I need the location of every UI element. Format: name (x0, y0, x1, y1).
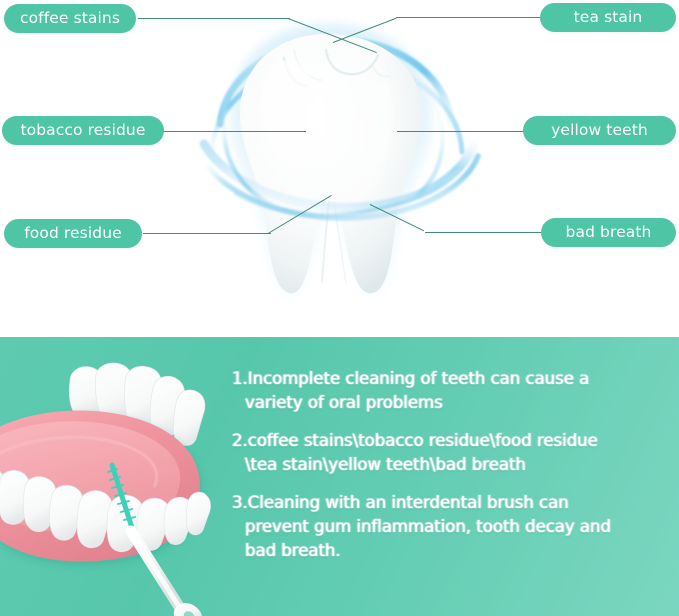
bullet-2-line-2: \tea stain\yellow teeth\bad breath (232, 453, 672, 477)
label-pill-coffee-stains[interactable]: coffee stains (4, 4, 136, 33)
connector-line-tobacco-residue (163, 131, 306, 132)
bullet-1-line-2: variety of oral problems (232, 391, 672, 415)
bullet-3-line-2: prevent gum inflammation, tooth decay an… (232, 515, 672, 539)
label-pill-yellow-teeth[interactable]: yellow teeth (523, 116, 676, 145)
bottom-info-panel: 1.Incomplete cleaning of teeth can cause… (0, 337, 679, 616)
label-pill-food-residue[interactable]: food residue (4, 219, 142, 248)
connector-line-tea-stain (396, 17, 542, 18)
dental-model-photo (0, 337, 232, 616)
bullet-3-line-1: 3.Cleaning with an interdental brush can (232, 491, 672, 515)
bullet-1-line-1: 1.Incomplete cleaning of teeth can cause… (232, 367, 672, 391)
label-pill-tea-stain[interactable]: tea stain (540, 3, 676, 32)
benefit-bullet-list: 1.Incomplete cleaning of teeth can cause… (232, 367, 672, 563)
bullet-3-line-3: bad breath. (232, 539, 672, 563)
connector-line-yellow-teeth (397, 131, 525, 132)
bullet-item-3: 3.Cleaning with an interdental brush can… (232, 491, 672, 563)
bullet-2-line-1: 2.coffee stains\tobacco residue\food res… (232, 429, 672, 453)
bullet-item-2: 2.coffee stains\tobacco residue\food res… (232, 429, 672, 477)
bullet-item-1: 1.Incomplete cleaning of teeth can cause… (232, 367, 672, 415)
tooth-illustration (176, 6, 486, 316)
connector-line-bad-breath (425, 232, 543, 233)
label-pill-bad-breath[interactable]: bad breath (541, 218, 676, 247)
top-illustration-panel: coffee stains tea stain tobacco residue … (0, 0, 679, 337)
label-pill-tobacco-residue[interactable]: tobacco residue (2, 116, 164, 145)
connector-line-coffee-stains (138, 18, 290, 19)
connector-line-food-residue (143, 233, 271, 234)
